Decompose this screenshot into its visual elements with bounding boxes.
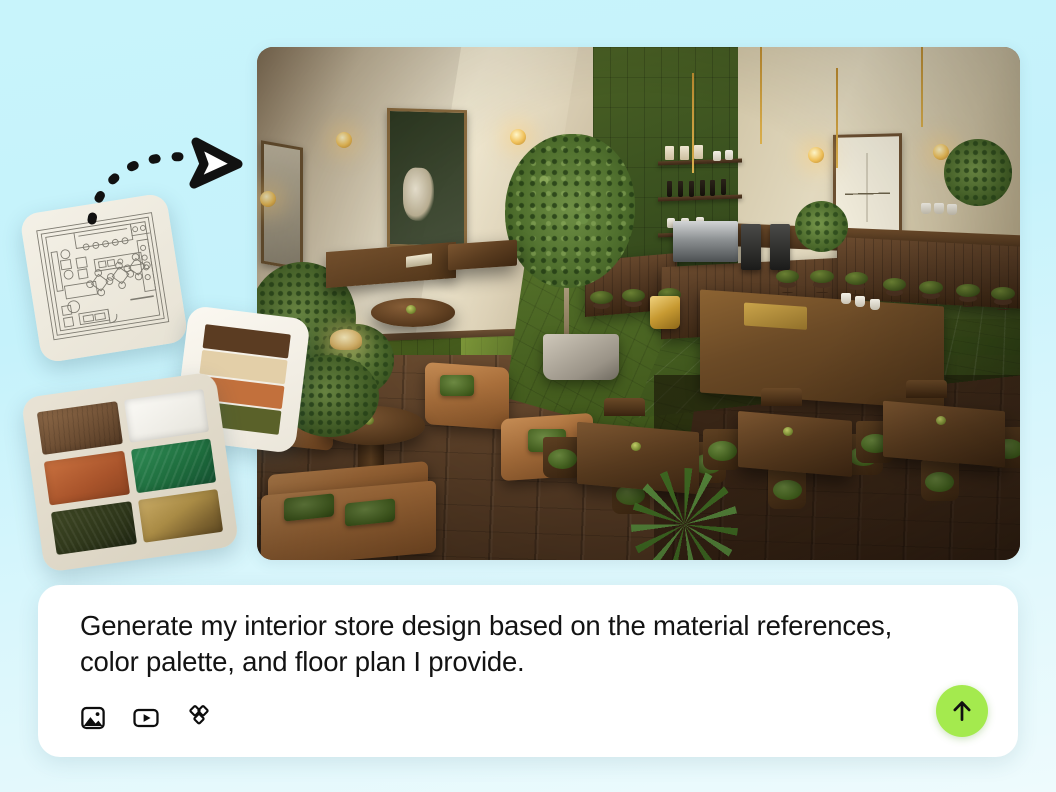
arrow-up-icon [949,698,975,724]
pendant-lamp [898,127,946,161]
espresso-machine [673,221,738,262]
tableware [855,296,865,307]
material-swatch-walnut-wood [37,401,123,455]
send-button[interactable] [936,685,988,737]
prompt-input[interactable]: Generate my interior store design based … [80,608,958,680]
brass-urn [650,296,681,329]
tableware [841,293,851,304]
coffee-grinder [770,224,790,270]
dining-chair [703,429,741,470]
coffee-bag [665,146,674,160]
coffee-grinder [741,224,761,270]
video-icon[interactable] [133,705,159,731]
table-plant [631,442,641,451]
dining-chair [921,460,959,501]
generated-image-preview[interactable] [257,47,1020,560]
material-swatch-white-plaster [123,389,209,443]
coffee-bag [694,145,703,159]
wall-sconce [336,132,352,148]
pendant-lamp [738,144,784,176]
table-plant [406,305,416,314]
coffee-bag [680,146,689,160]
framed-art-main [387,107,467,248]
dining-table [883,401,1005,468]
bar-stool [590,291,614,304]
jar [725,150,733,160]
material-swatch-brushed-brass [137,489,223,543]
dashed-curved-arrow [78,128,258,228]
cup-stack [947,204,957,215]
dining-chair [543,437,581,478]
table-lamp [330,329,362,350]
potted-plant [944,139,1013,206]
chair-back [906,380,947,397]
dining-chair [768,468,806,509]
bottle [710,180,715,196]
cup-stack [934,203,944,214]
side-table [448,240,517,270]
tableware [870,299,880,310]
pendant-lamp [811,168,863,204]
wall-sconce [808,147,824,163]
prompt-composer-card[interactable]: Generate my interior store design based … [38,585,1018,757]
green-cushion [440,375,474,396]
material-swatch-terracotta-leather [44,451,130,505]
cup-stack [921,203,931,214]
bar-stool [956,284,980,297]
bottle [721,179,726,195]
bottle [667,181,672,197]
composer-toolbar [80,705,212,731]
tree-planter [543,334,619,380]
bar-stool [845,272,869,285]
cafe-interior-scene [257,47,1020,560]
material-swatch-olive-velvet [51,501,137,555]
pendant-lamp [680,173,706,193]
dining-table [738,411,852,477]
potted-plant [795,201,848,252]
diamonds-icon[interactable] [186,705,212,731]
material-reference-card[interactable] [21,371,240,573]
jar [713,151,721,161]
chair-back [761,388,802,405]
chair-back [604,398,645,415]
material-swatch-emerald-tile [130,439,216,493]
wall-sconce [260,191,276,207]
image-icon[interactable] [80,705,106,731]
